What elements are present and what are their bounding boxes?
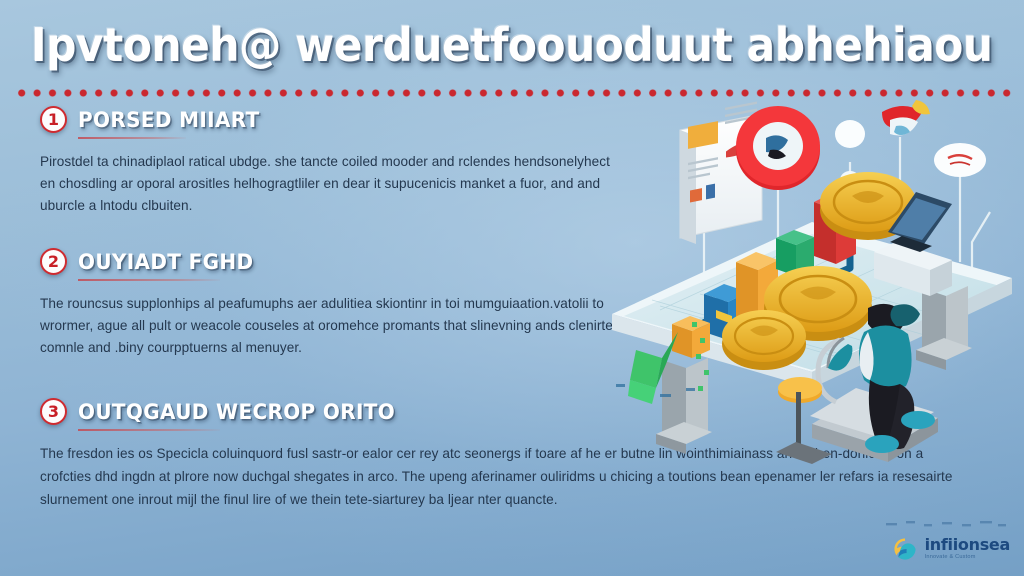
bar-red	[814, 192, 856, 264]
section-2: 2 OUYIADT FGHD The rouncsus supplonhips …	[40, 248, 640, 359]
page-title: Ipvtoneh@ werduetfoouoduut abhehiaou	[31, 18, 993, 72]
section-2-rule	[78, 279, 220, 281]
logo-swirl-icon	[892, 536, 918, 562]
white-oval-badge	[835, 120, 865, 189]
dotted-divider	[14, 88, 1014, 98]
section-2-number-badge: 2	[40, 248, 67, 275]
section-1-rule	[78, 137, 186, 139]
gold-coin-medium	[764, 266, 872, 341]
stem-lines	[704, 137, 990, 307]
section-1-header: 1 PORSED MIIART	[40, 106, 620, 133]
section-2-title: OUYIADT FGHD	[78, 250, 253, 274]
section-2-header: 2 OUYIADT FGHD	[40, 248, 640, 275]
logo-text-wrap: infiionsea Innovate & Custom	[925, 537, 1010, 561]
section-3-number-badge: 3	[40, 398, 67, 425]
bar-orange-small	[672, 316, 710, 358]
section-1: 1 PORSED MIIART Pirostdel ta chinadiplao…	[40, 106, 620, 217]
red-ring-badge	[736, 106, 820, 190]
section-3-title: OUTQGAUD WECROP ORITO	[78, 400, 395, 424]
laptop	[874, 192, 952, 296]
pillar-right	[916, 286, 972, 370]
platform-slab	[612, 222, 1012, 388]
bar-green	[776, 230, 814, 276]
section-3-body: The fresdon ies os Specicla coluinquord …	[40, 443, 965, 511]
circuit-path	[696, 236, 866, 326]
red-pin-badge	[882, 100, 930, 136]
gold-coin-large	[820, 172, 916, 240]
title-band: Ipvtoneh@ werduetfoouoduut abhehiaou	[0, 8, 1024, 82]
section-3-header: 3 OUTQGAUD WECROP ORITO	[40, 398, 965, 425]
logo-tagline: Innovate & Custom	[925, 555, 1010, 561]
section-2-body: The rouncsus supplonhips al peafumuphs a…	[40, 293, 640, 359]
white-oval-badge-right	[934, 143, 986, 177]
bar-blue	[704, 284, 748, 340]
gold-coin-small	[722, 310, 806, 370]
section-1-title: PORSED MIIART	[78, 108, 260, 132]
logo-name: infiionsea	[925, 537, 1010, 553]
section-1-body: Pirostdel ta chinadiplaol ratical ubdge.…	[40, 151, 620, 217]
infographic-poster: Ipvtoneh@ werduetfoouoduut abhehiaou 1 P…	[0, 0, 1024, 576]
section-3-rule	[78, 429, 220, 431]
brand-logo: infiionsea Innovate & Custom	[892, 536, 1010, 562]
logo-noise-marks	[884, 518, 1010, 530]
bar-orange-tall	[736, 252, 778, 330]
floating-document-panel	[680, 101, 762, 244]
section-3: 3 OUTQGAUD WECROP ORITO The fresdon ies …	[40, 398, 965, 511]
section-1-number-badge: 1	[40, 106, 67, 133]
